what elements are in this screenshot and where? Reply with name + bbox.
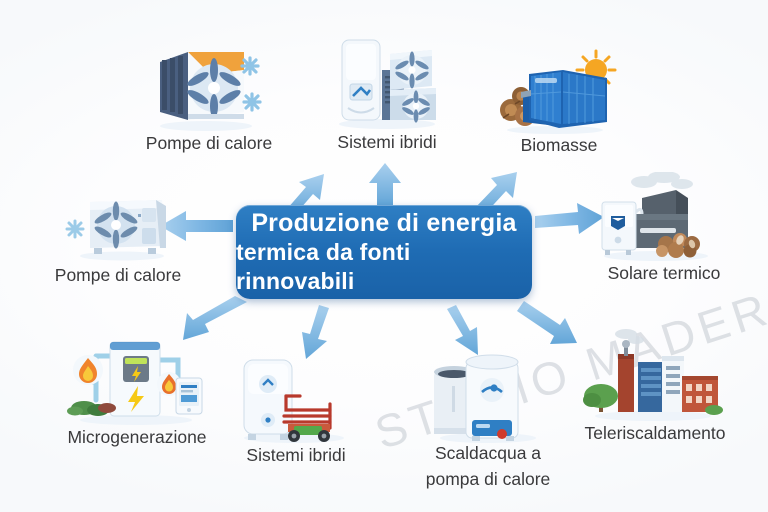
center-node[interactable]: Produzione di energia termica da fonti r… (236, 205, 532, 299)
shrubs-icon (67, 401, 116, 416)
label-sistemi-ibridi-bottom: Sistemi ibridi (220, 444, 372, 467)
microgeneration-icon (66, 330, 206, 426)
node-solare-termico[interactable]: Solare termico (592, 172, 720, 267)
node-biomasse[interactable]: Biomasse (495, 48, 621, 139)
solar-panel-biomass-icon (495, 48, 621, 134)
node-teleriscaldamento[interactable]: Teleriscaldamento (580, 328, 726, 427)
label-pompe-di-calore-top: Pompe di calore (124, 132, 294, 155)
label-pompe-di-calore-left: Pompe di calore (48, 264, 188, 287)
label-biomasse: Biomasse (491, 134, 627, 157)
biomass-boiler-icon (592, 172, 720, 262)
center-title-line1: Produzione di energia (251, 208, 516, 238)
node-sistemi-ibridi-top[interactable]: Sistemi ibridi (328, 28, 446, 135)
center-title-line2: termica da fonti rinnovabili (236, 238, 532, 296)
flame-icon (73, 355, 103, 385)
label-scaldacqua: Scaldacqua a pompa di calore (404, 440, 572, 492)
arrow-to-teleriscaldamento (517, 301, 577, 344)
smoke-icon (631, 172, 693, 189)
node-pompe-di-calore-left[interactable]: Pompe di calore (62, 186, 174, 269)
node-sistemi-ibridi-bottom[interactable]: Sistemi ibridi (232, 352, 358, 449)
arrow-to-sistemi-ibridi-top (369, 163, 401, 205)
district-heating-icon (580, 328, 726, 422)
water-tank-icon (232, 352, 358, 444)
diagram-canvas: STUDIO MADERA Produzione di energia term… (0, 0, 768, 512)
smoke-icon (615, 329, 644, 344)
hybrid-system-icon (328, 28, 446, 130)
label-teleriscaldamento: Teleriscaldamento (572, 422, 738, 445)
heat-pump-icon (62, 186, 174, 264)
label-sistemi-ibridi-top: Sistemi ibridi (311, 131, 463, 154)
node-microgenerazione[interactable]: Microgenerazione (66, 330, 206, 431)
label-solare-termico: Solare termico (594, 262, 734, 285)
heat-pump-icon (148, 40, 266, 132)
arrow-to-sistemi-ibridi-bottom (302, 305, 329, 359)
node-pompe-di-calore-top[interactable]: Pompe di calore (148, 40, 266, 137)
label-microgenerazione: Microgenerazione (61, 426, 213, 449)
water-heater-icon (428, 348, 548, 444)
tree-icon (583, 384, 618, 412)
node-scaldacqua[interactable]: Scaldacqua a pompa di calore (428, 348, 548, 449)
